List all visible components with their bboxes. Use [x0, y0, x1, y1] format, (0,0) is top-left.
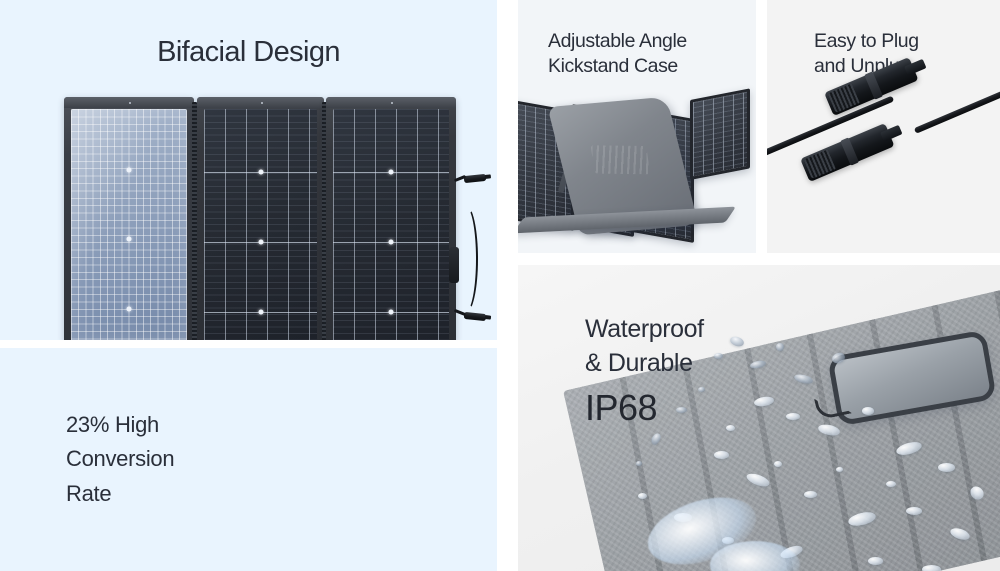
panel-adjustable-kickstand: Adjustable Angle Kickstand Case — [518, 0, 756, 253]
feature-grid: Bifacial Design — [0, 0, 1000, 571]
solar-fold-2 — [197, 97, 324, 340]
solar-fold-1 — [64, 97, 194, 340]
ip-rating-label: IP68 — [585, 387, 657, 429]
panel-conversion-rate: 23% High Conversion Rate — [0, 348, 497, 571]
mono-cell-surface — [333, 109, 449, 340]
output-cable — [454, 205, 478, 313]
panel-bifacial-heading: Bifacial Design — [0, 34, 497, 71]
panel-easy-to-plug: Easy to Plug and Unplug — [767, 0, 1000, 253]
solar-fold-3 — [326, 97, 456, 340]
panel-waterproof-heading: Waterproof & Durable — [585, 313, 835, 380]
folding-solar-panel-image — [64, 97, 464, 340]
panel-kickstand-heading: Adjustable Angle Kickstand Case — [548, 29, 753, 78]
mc4-connector-image — [767, 90, 1000, 253]
bifacial-light-cell-surface — [71, 109, 187, 340]
panel-bifacial-design: Bifacial Design — [0, 0, 497, 340]
mc4-connector-top — [464, 174, 487, 183]
kickstand-solar-fold-4 — [690, 88, 750, 180]
kickstand-case-image — [518, 92, 756, 242]
panel-waterproof-durable: Waterproof & Durable IP68 — [518, 265, 1000, 571]
cable-upper-right — [914, 85, 1000, 134]
waterproof-scene: Waterproof & Durable IP68 — [518, 265, 1000, 571]
mono-cell-surface — [204, 109, 317, 340]
mc4-connector-bottom — [464, 312, 487, 321]
panel-conversion-heading: 23% High Conversion Rate — [66, 408, 256, 511]
